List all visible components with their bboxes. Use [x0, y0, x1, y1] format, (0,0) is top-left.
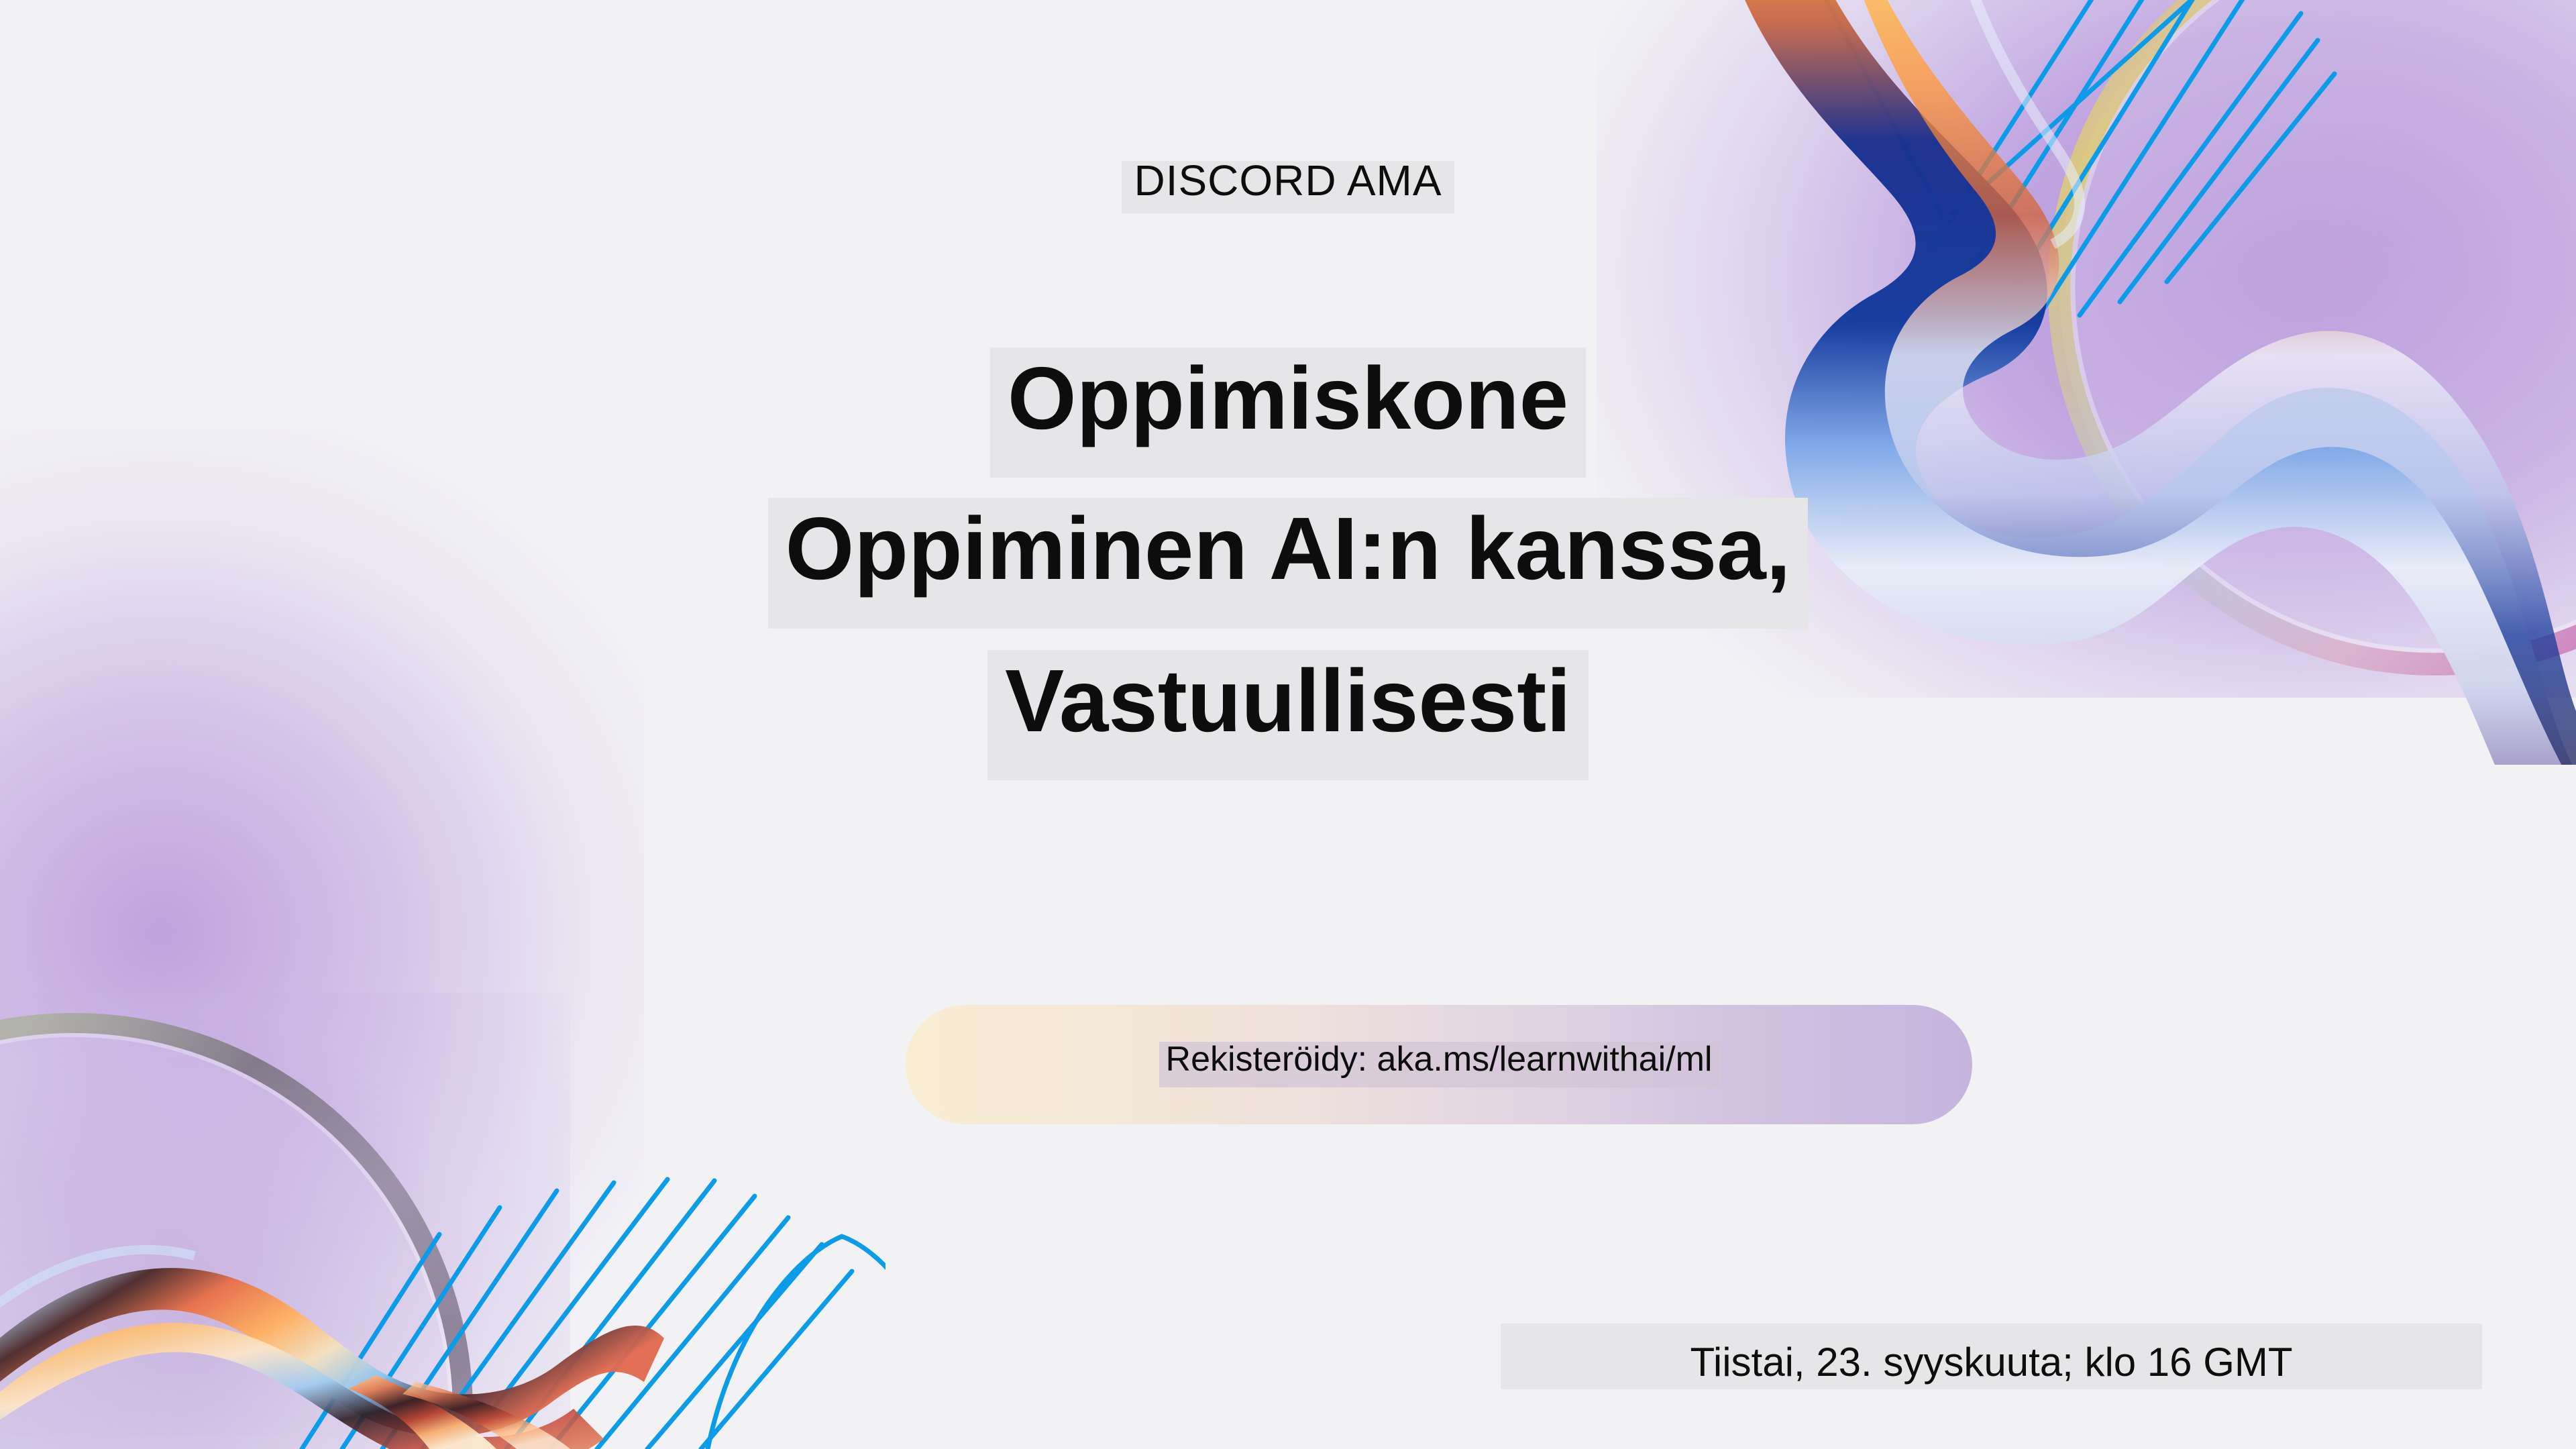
diagonal-hatch-lines-bottom-left: [302, 1179, 852, 1449]
eyebrow-container: DISCORD AMA: [0, 161, 2576, 213]
title-line-2: Oppiminen AI:n kanssa,: [0, 498, 2576, 628]
title-line-3-text: Vastuullisesti: [987, 650, 1589, 780]
page-title: Oppimiskone Oppiminen AI:n kanssa, Vastu…: [0, 347, 2576, 780]
bottom-left-decoration-group: [0, 1023, 966, 1449]
title-line-2-text: Oppiminen AI:n kanssa,: [768, 498, 1809, 628]
soap-bubble-arc-bottom-left: [0, 1023, 463, 1449]
title-line-3: Vastuullisesti: [0, 650, 2576, 780]
title-line-1-text: Oppimiskone: [990, 347, 1586, 478]
slide-canvas: DISCORD AMA Oppimiskone Oppiminen AI:n k…: [0, 0, 2576, 1449]
iridescent-wave-ribbon-bottom-left: [0, 1250, 664, 1449]
event-date-badge: Tiistai, 23. syyskuuta; klo 16 GMT: [1501, 1324, 2482, 1389]
title-line-1: Oppimiskone: [0, 347, 2576, 478]
register-cta-label[interactable]: Rekisteröidy: aka.ms/learnwithai/ml: [1159, 1042, 1719, 1088]
thin-blue-arc-line: [708, 1236, 966, 1449]
eyebrow-label: DISCORD AMA: [1122, 161, 1454, 213]
event-date-text: Tiistai, 23. syyskuuta; klo 16 GMT: [1690, 1335, 2292, 1379]
diagonal-hatch-lines-top-right: [1932, 0, 2334, 315]
register-cta-label-container: Rekisteröidy: aka.ms/learnwithai/ml: [906, 1005, 1972, 1124]
purple-glow-bottom-left: [0, 993, 570, 1449]
